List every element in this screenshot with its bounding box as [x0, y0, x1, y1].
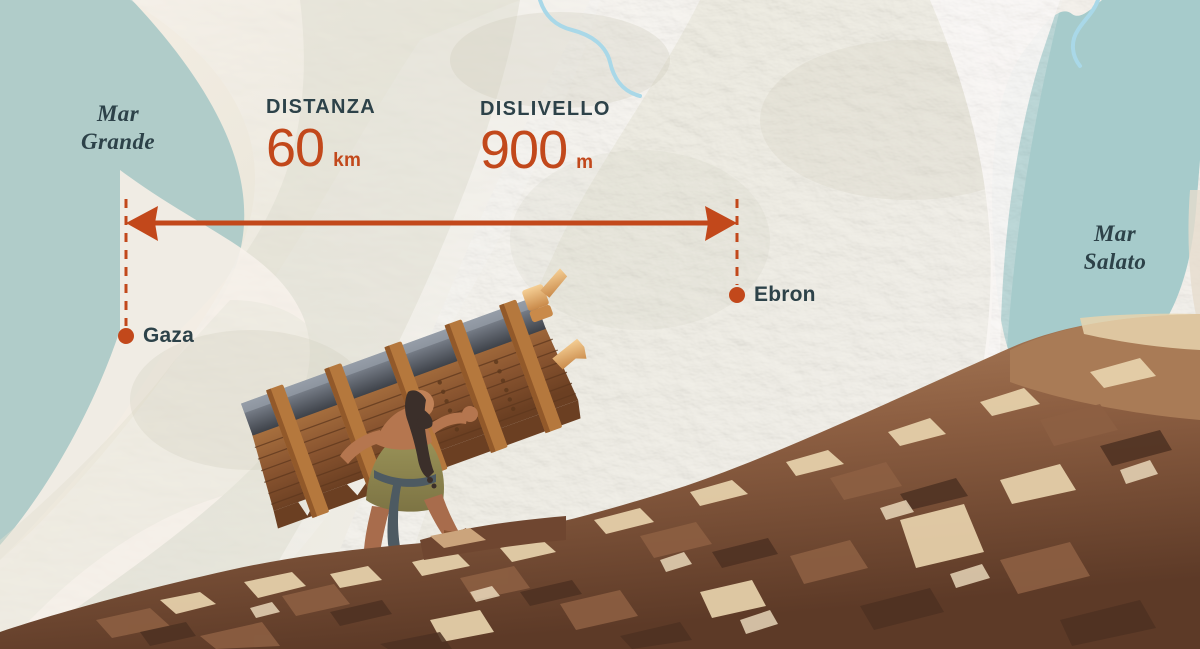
metric-distance-caption: DISTANZA [266, 96, 376, 119]
metric-elevation: DISLIVELLO 900 m [480, 98, 611, 177]
city-dot-icon [118, 328, 134, 344]
metric-distance: DISTANZA 60 km [266, 96, 376, 175]
sea-label-west: Mar Grande [58, 100, 178, 156]
city-marker-gaza: Gaza [118, 324, 194, 348]
city-label-ebron: Ebron [754, 283, 816, 307]
infographic-canvas: Mar Grande Mar Salato DISTANZA 60 km DIS… [0, 0, 1200, 649]
metric-elevation-value: 900 [480, 123, 567, 177]
metric-elevation-caption: DISLIVELLO [480, 98, 611, 121]
metric-distance-value: 60 [266, 121, 324, 175]
city-dot-icon [729, 287, 745, 303]
rocky-foreground [0, 314, 1200, 649]
city-label-gaza: Gaza [143, 324, 194, 348]
metric-distance-unit: km [333, 150, 361, 172]
metric-elevation-unit: m [576, 152, 593, 174]
sea-label-east: Mar Salato [1055, 220, 1175, 276]
city-marker-ebron: Ebron [729, 283, 816, 307]
